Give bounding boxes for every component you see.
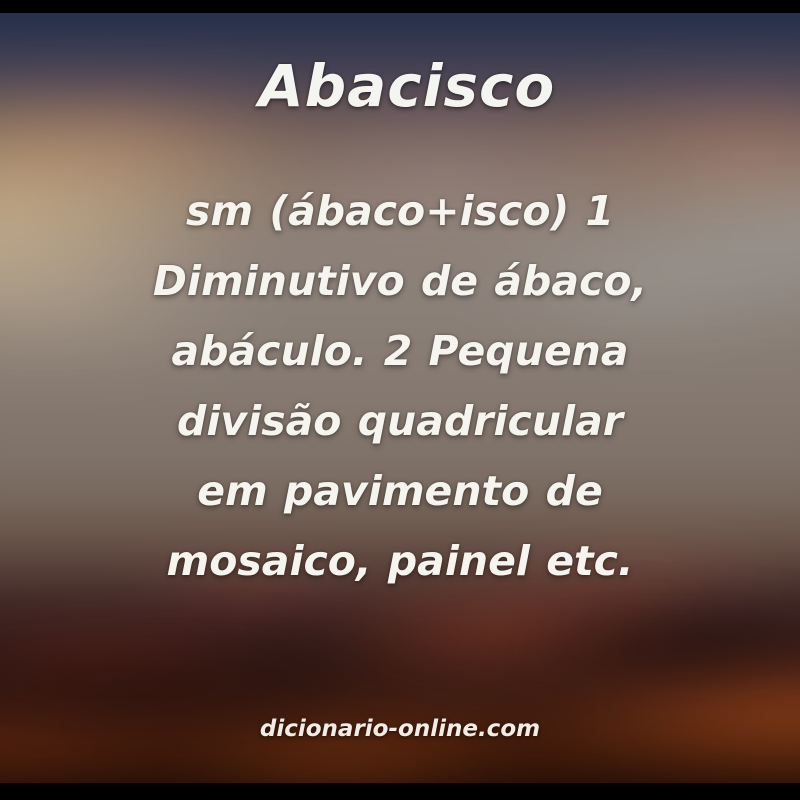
- dictionary-definition-card: Abacisco sm (ábaco+isco) 1 Diminutivo de…: [0, 0, 800, 800]
- definition-line: em pavimento de: [100, 456, 700, 526]
- definition-line: mosaico, painel etc.: [100, 526, 700, 596]
- headword-title: Abacisco: [0, 52, 800, 120]
- definition-line: sm (ábaco+isco) 1: [100, 176, 700, 246]
- site-watermark: dicionario-online.com: [0, 714, 800, 744]
- definition-line: Diminutivo de ábaco,: [100, 246, 700, 316]
- definition-line: divisão quadricular: [100, 386, 700, 456]
- letterbox-bar-bottom: [0, 783, 800, 800]
- card-content: Abacisco sm (ábaco+isco) 1 Diminutivo de…: [0, 0, 800, 800]
- definition-text: sm (ábaco+isco) 1 Diminutivo de ábaco, a…: [100, 176, 700, 596]
- letterbox-bar-top: [0, 0, 800, 13]
- definition-line: abáculo. 2 Pequena: [100, 316, 700, 386]
